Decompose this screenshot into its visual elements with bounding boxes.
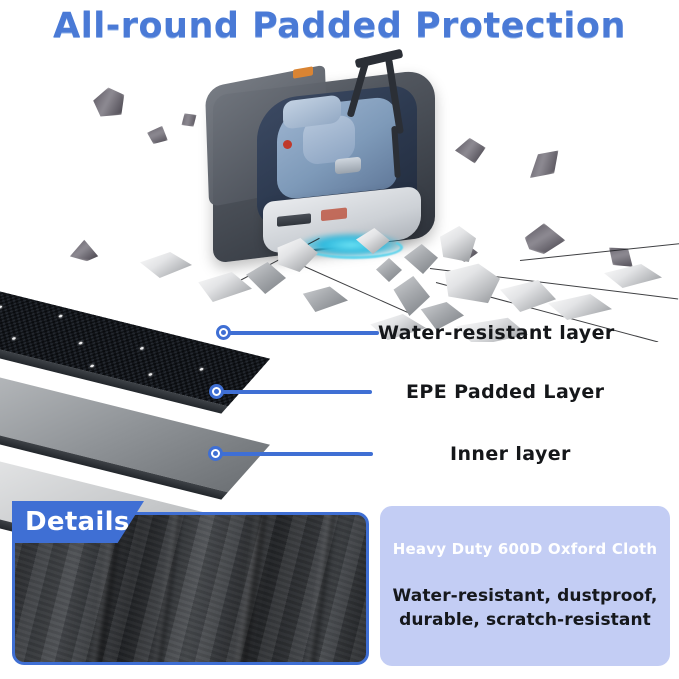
floating-debris-3 xyxy=(144,122,172,149)
floating-debris-4 xyxy=(452,135,488,166)
infographic-root: All-round Padded Protection xyxy=(0,0,679,679)
rubble-17 xyxy=(356,228,390,254)
rubble-14 xyxy=(140,252,192,278)
fabric-fold-3 xyxy=(232,512,271,665)
hero-scene xyxy=(0,46,679,296)
fabric-fold-4 xyxy=(304,512,339,665)
harness-release-button xyxy=(283,140,292,149)
layer-stack xyxy=(0,278,300,498)
crack-line-4 xyxy=(520,243,679,261)
callout-line xyxy=(221,452,373,456)
base-red-patch xyxy=(321,207,347,221)
material-heading: Heavy Duty 600D Oxford Cloth xyxy=(380,540,670,558)
details-badge-label: Details xyxy=(12,507,130,537)
floating-debris-9 xyxy=(177,108,201,131)
fabric-fold-2 xyxy=(152,512,185,665)
callout-line xyxy=(222,390,372,394)
material-features: Water-resistant, dustproof, durable, scr… xyxy=(380,584,670,632)
rubble-9 xyxy=(376,258,402,282)
floating-debris-5 xyxy=(521,144,567,185)
rubble-1 xyxy=(436,226,476,262)
harness-buckle xyxy=(335,157,361,175)
rubble-5 xyxy=(500,280,556,312)
rubble-10 xyxy=(548,294,612,320)
layer-label-water-resistant: Water-resistant layer xyxy=(378,322,615,344)
layer-label-inner: Inner layer xyxy=(450,443,571,465)
rubble-2 xyxy=(404,244,438,274)
rubble-15 xyxy=(300,286,348,312)
layer-label-epe-padded: EPE Padded Layer xyxy=(406,381,604,403)
callout-line xyxy=(229,331,379,335)
carry-strap-handle xyxy=(355,49,404,69)
floating-debris-1 xyxy=(88,83,130,122)
page-title: All-round Padded Protection xyxy=(0,6,679,46)
rubble-16 xyxy=(604,264,662,288)
material-info-panel: Heavy Duty 600D Oxford Cloth Water-resis… xyxy=(380,506,670,666)
